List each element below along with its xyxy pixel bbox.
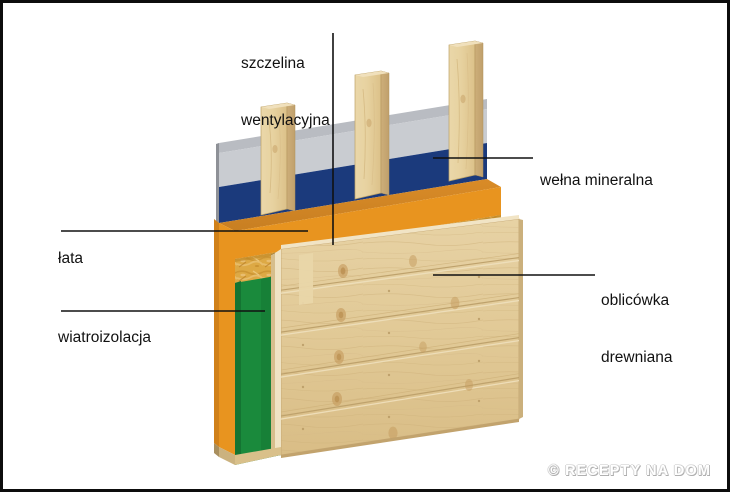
label-wood-cladding-line1: oblicówka [601, 291, 673, 310]
label-wind-barrier-line1: wiatroizolacja [58, 328, 151, 347]
label-vent-gap-line2: wentylacyjna [241, 111, 330, 130]
label-vent-gap: szczelina wentylacyjna [241, 16, 330, 168]
label-batten-line1: łata [58, 249, 83, 268]
label-wind-barrier: wiatroizolacja [58, 290, 151, 385]
wood-cladding [271, 213, 529, 463]
label-mineral-wool-line1: wełna mineralna [540, 171, 653, 190]
label-mineral-wool: wełna mineralna [540, 133, 653, 228]
label-wood-cladding: oblicówka drewniana [601, 253, 673, 405]
diagram-canvas: szczelina wentylacyjna wełna mineralna ł… [0, 0, 730, 492]
label-vent-gap-line1: szczelina [241, 54, 330, 73]
wall-section-illustration [3, 3, 730, 492]
watermark: © RECEPTY NA DOM [548, 463, 711, 479]
cladding-top-return [299, 253, 313, 305]
label-wood-cladding-line2: drewniana [601, 348, 673, 367]
